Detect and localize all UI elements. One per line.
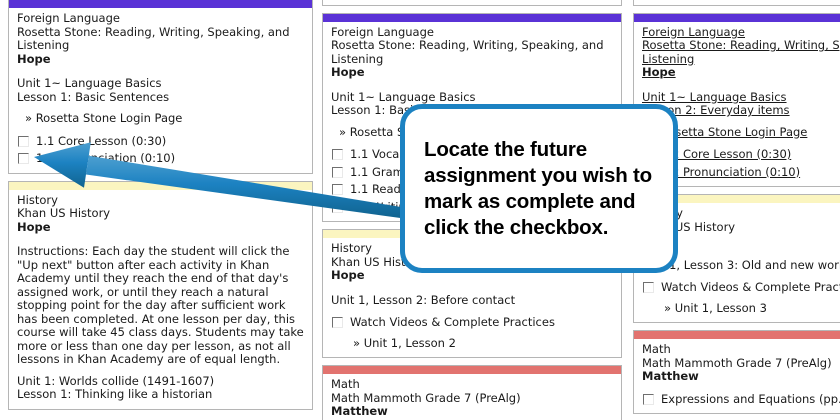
- card-course-title: Rosetta Stone: Reading, Writing, Speakin…: [642, 39, 840, 66]
- left-column: » LectureNotesForeign LanguageRosetta St…: [8, 0, 313, 417]
- assignment-checkbox-label: 1.2 Core Lesson (0:30): [661, 148, 791, 162]
- card-subject: History: [17, 194, 304, 208]
- card-course-title: Rosetta Stone: Reading, Writing, Speakin…: [331, 39, 613, 66]
- assignment-checkbox[interactable]: [332, 149, 343, 160]
- card-unit-label: Unit 1, Lesson 2: Before contact: [331, 294, 613, 308]
- card-course-title: Rosetta Stone: Reading, Writing, Speakin…: [17, 26, 304, 53]
- assignment-card: Exercise ExamplesSample ProblemsExercise: [633, 0, 840, 6]
- spacer: [642, 80, 840, 91]
- card-subject: Math: [642, 343, 840, 357]
- lesson-planner-screenshot: » LectureNotesForeign LanguageRosetta St…: [0, 0, 840, 420]
- card-accent-bar: [323, 14, 621, 22]
- card-lesson-label: Lesson 1: Thinking like a historian: [17, 388, 304, 402]
- assignment-checkbox-label: 1.1 Pronunciation (0:10): [36, 152, 175, 166]
- assignment-checkbox[interactable]: [18, 153, 29, 164]
- assignment-checkbox[interactable]: [332, 184, 343, 195]
- assignment-card: MathMath Mammoth Grade 7 (PreAlg)Matthew: [322, 365, 622, 420]
- card-sub-link[interactable]: » Unit 1, Lesson 3: [642, 302, 840, 316]
- assignment-checkbox-label: Watch Videos & Complete Practices: [661, 281, 840, 295]
- assignment-checkbox[interactable]: [332, 202, 343, 213]
- assignment-checkbox[interactable]: [643, 282, 654, 293]
- assignment-checkbox-label: 1.1 Core Lesson (0:30): [36, 135, 166, 149]
- assignment-card: MathMath Mammoth Grade 7 (PreAlg)Matthew…: [633, 330, 840, 414]
- instruction-callout: Locate the future assignment you wish to…: [400, 104, 678, 273]
- card-student-name: Hope: [642, 66, 840, 80]
- assignment-card: Exercise ExamplesSample ProblemsExercise: [322, 0, 622, 6]
- card-accent-bar: [9, 182, 312, 190]
- card-resource-link[interactable]: » Rosetta Stone Login Page: [17, 112, 304, 126]
- card-accent-bar: [634, 14, 840, 22]
- card-body: Exercise ExamplesSample ProblemsExercise: [634, 0, 840, 5]
- card-subject: Math: [331, 378, 613, 392]
- assignment-card: Foreign LanguageRosetta Stone: Reading, …: [8, 0, 313, 174]
- card-lesson-label: Lesson 1: Basic Sentences: [17, 91, 304, 105]
- card-unit-label: Unit 1~ Language Basics: [331, 91, 613, 105]
- card-course-title: Khan US History: [17, 207, 304, 221]
- card-subject: Foreign Language: [642, 26, 840, 40]
- card-student-name: Hope: [17, 221, 304, 235]
- card-subject: Foreign Language: [17, 12, 304, 26]
- card-accent-bar: [634, 331, 840, 339]
- card-student-name: Matthew: [331, 405, 613, 419]
- spacer: [331, 283, 613, 294]
- card-accent-bar: [323, 366, 621, 374]
- card-student-name: Matthew: [642, 370, 840, 384]
- card-body: Foreign LanguageRosetta Stone: Reading, …: [9, 8, 312, 173]
- card-course-title: Math Mammoth Grade 7 (PreAlg): [642, 357, 840, 371]
- instruction-callout-text: Locate the future assignment you wish to…: [405, 137, 673, 241]
- card-body: HistoryKhan US HistoryHopeInstructions: …: [9, 190, 312, 409]
- card-body: Exercise ExamplesSample ProblemsExercise: [323, 0, 621, 5]
- card-course-title: Math Mammoth Grade 7 (PreAlg): [331, 392, 613, 406]
- card-subject: Foreign Language: [331, 26, 613, 40]
- card-unit-label: Unit 1~ Language Basics: [17, 77, 304, 91]
- assignment-checkbox-label: 1.2 Pronunciation (0:10): [661, 166, 800, 180]
- spacer: [331, 80, 613, 91]
- card-body: MathMath Mammoth Grade 7 (PreAlg)Matthew: [323, 374, 621, 420]
- assignment-checkbox-row[interactable]: 1.1 Core Lesson (0:30): [17, 135, 304, 149]
- assignment-checkbox-row[interactable]: Watch Videos & Complete Practices: [642, 281, 840, 295]
- assignment-checkbox-row[interactable]: Expressions and Equations (pp. 15-17): [642, 393, 840, 407]
- assignment-checkbox-row[interactable]: Watch Videos & Complete Practices: [331, 316, 613, 330]
- card-unit-label: Unit 1~ Language Basics: [642, 91, 840, 105]
- assignment-checkbox[interactable]: [18, 136, 29, 147]
- assignment-card: HistoryKhan US HistoryHopeInstructions: …: [8, 181, 313, 410]
- card-accent-bar: [9, 0, 312, 8]
- card-body: MathMath Mammoth Grade 7 (PreAlg)Matthew…: [634, 339, 840, 413]
- card-sub-link[interactable]: » Unit 1, Lesson 2: [331, 337, 613, 351]
- assignment-checkbox-label: Watch Videos & Complete Practices: [350, 316, 555, 330]
- card-student-name: Hope: [17, 53, 304, 67]
- assignment-checkbox[interactable]: [332, 167, 343, 178]
- assignment-checkbox[interactable]: [332, 317, 343, 328]
- card-unit-label: Unit 1: Worlds collide (1491-1607): [17, 375, 304, 389]
- card-instructions: Instructions: Each day the student will …: [17, 245, 304, 367]
- assignment-checkbox-label: Expressions and Equations (pp. 15-17): [661, 393, 840, 407]
- assignment-checkbox[interactable]: [643, 394, 654, 405]
- card-student-name: Hope: [331, 66, 613, 80]
- assignment-checkbox-row[interactable]: 1.1 Pronunciation (0:10): [17, 152, 304, 166]
